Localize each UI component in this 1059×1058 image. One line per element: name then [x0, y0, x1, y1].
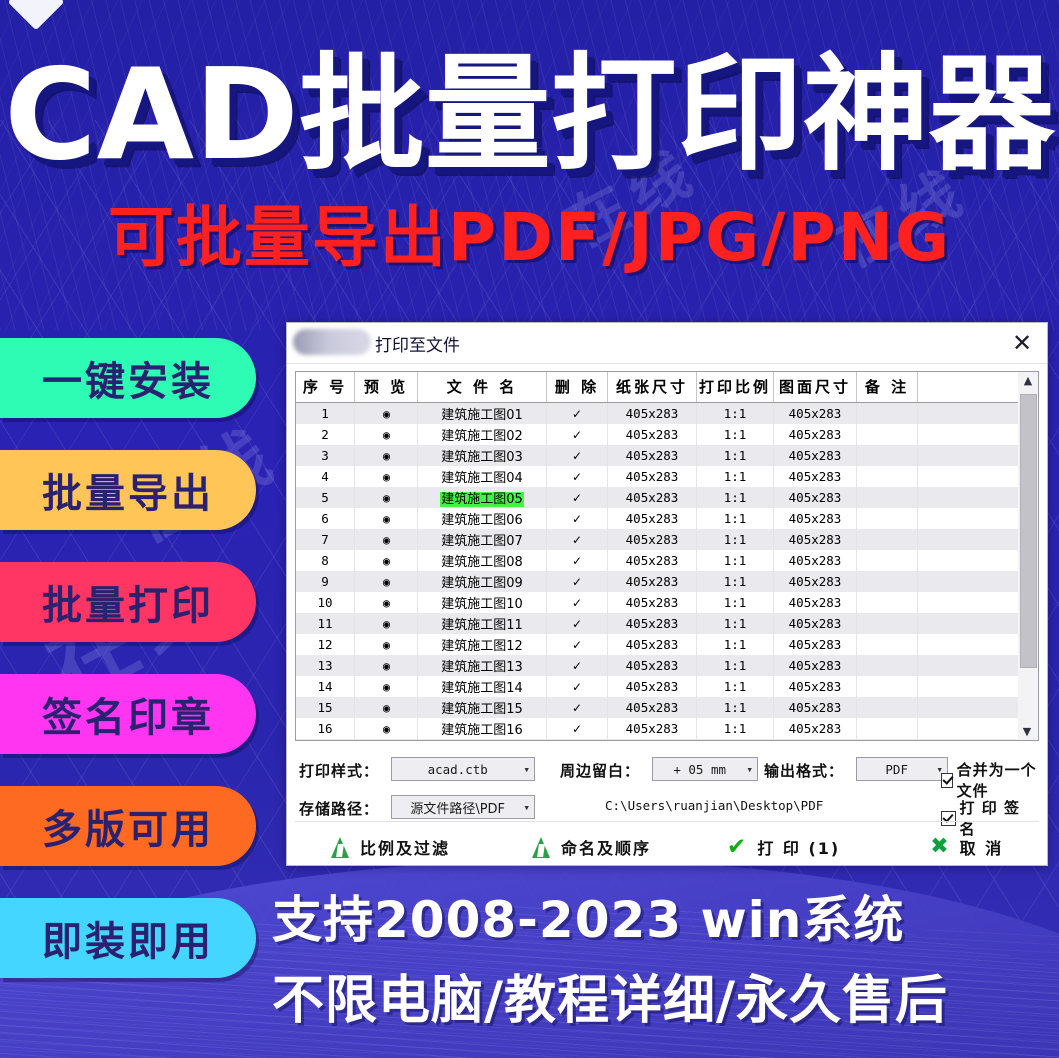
cell-paper-size: 405x283	[608, 445, 697, 466]
table-row[interactable]: 4◉建筑施工图04✓405x2831:1405x283	[296, 466, 1019, 487]
cell-delete[interactable]: ✓	[547, 613, 608, 634]
dialog-action-bar: 比例及过滤 命名及顺序 ✔ 打 印 (1) ✖ 取 消	[287, 829, 1047, 865]
cell-print-scale: 1:1	[697, 592, 774, 613]
table-row[interactable]: 12◉建筑施工图12✓405x2831:1405x283	[296, 634, 1019, 655]
poster-canvas: 在线 在线 在线 在线 CAD批量打印神器 可批量导出PDF/JPG/PNG 一…	[0, 0, 1059, 1058]
cell-seq: 6	[296, 508, 355, 529]
cell-spacer	[918, 508, 1020, 529]
filename-text: 建筑施工图09	[441, 576, 523, 591]
eye-icon[interactable]: ◉	[383, 428, 389, 442]
cell-paper-size: 405x283	[608, 655, 697, 676]
footer-line-1: 支持2008-2023 win系统	[272, 880, 1059, 952]
sidebar-item-label: 签名印章	[42, 685, 214, 743]
cell-seq: 11	[296, 613, 355, 634]
filename-text: 建筑施工图10	[441, 597, 523, 612]
save-path-value: 源文件路径\PDF	[400, 798, 515, 817]
table-row[interactable]: 5◉建筑施工图05✓405x2831:1405x283	[296, 487, 1019, 508]
sidebar-item-label: 一键安装	[42, 349, 214, 407]
cell-paper-size: 405x283	[608, 466, 697, 487]
cell-spacer	[918, 424, 1020, 445]
column-header-filename[interactable]: 文 件 名	[418, 372, 547, 403]
cell-spacer	[918, 592, 1020, 613]
cell-spacer	[918, 739, 1020, 741]
cell-delete[interactable]: ✓	[547, 592, 608, 613]
file-table: 序 号 预 览 文 件 名 删 除 纸张尺寸 打印比例 图面尺寸 备 注 1◉建…	[296, 372, 1019, 741]
cell-delete[interactable]: ✓	[547, 445, 608, 466]
scale-and-filter-button[interactable]: 比例及过滤	[329, 835, 450, 859]
cell-note[interactable]	[857, 508, 918, 529]
cell-filename[interactable]: 建筑施工图15	[418, 697, 547, 718]
sidebar-item-label: 即装即用	[42, 909, 214, 967]
naming-and-order-button[interactable]: 命名及顺序	[530, 835, 651, 859]
sidebar-item-multi-version[interactable]: 多版可用	[0, 786, 256, 866]
table-row[interactable]: 2◉建筑施工图02✓405x2831:1405x283	[296, 424, 1019, 445]
cell-note[interactable]	[857, 634, 918, 655]
cell-delete[interactable]: ✓	[547, 529, 608, 550]
table-row[interactable]: 15◉建筑施工图15✓405x2831:1405x283	[296, 697, 1019, 718]
cell-drawing-size: 405x283	[774, 613, 857, 634]
cell-filename[interactable]: 建筑施工图17	[418, 739, 547, 741]
cell-print-scale: 1:1	[697, 424, 774, 445]
table-row[interactable]: 17◉建筑施工图17✓405x2831:1405x283	[296, 739, 1019, 741]
cell-drawing-size: 405x283	[774, 571, 857, 592]
cell-filename[interactable]: 建筑施工图14	[418, 676, 547, 697]
dialog-title: 打印至文件	[375, 331, 460, 356]
cell-seq: 14	[296, 676, 355, 697]
eye-icon[interactable]: ◉	[383, 701, 389, 715]
cell-drawing-size: 405x283	[774, 676, 857, 697]
check-mark-icon[interactable]: ✓	[572, 491, 582, 505]
cell-note[interactable]	[857, 445, 918, 466]
column-header-drawing-size[interactable]: 图面尺寸	[774, 372, 857, 403]
cell-spacer	[918, 634, 1020, 655]
cell-note[interactable]	[857, 487, 918, 508]
cell-preview[interactable]: ◉	[355, 634, 418, 655]
cell-delete[interactable]: ✓	[547, 634, 608, 655]
cell-print-scale: 1:1	[697, 529, 774, 550]
dialog-body: 序 号 预 览 文 件 名 删 除 纸张尺寸 打印比例 图面尺寸 备 注 1◉建…	[295, 371, 1039, 1058]
cell-paper-size: 405x283	[608, 634, 697, 655]
sidebar-item-label: 多版可用	[42, 797, 214, 855]
page-title: CAD批量打印神器	[0, 52, 1059, 178]
sidebar-item-ready-to-use[interactable]: 即装即用	[0, 898, 256, 978]
cell-drawing-size: 405x283	[774, 403, 857, 425]
sidebar-item-label: 批量打印	[42, 573, 214, 631]
check-mark-icon[interactable]: ✓	[572, 596, 582, 610]
cell-spacer	[918, 655, 1020, 676]
cell-delete[interactable]: ✓	[547, 466, 608, 487]
cell-preview[interactable]: ◉	[355, 697, 418, 718]
filename-text: 建筑施工图11	[441, 618, 523, 633]
eye-icon[interactable]: ◉	[383, 638, 389, 652]
filename-text: 建筑施工图07	[441, 534, 523, 549]
cell-seq: 16	[296, 718, 355, 739]
eye-icon[interactable]: ◉	[383, 596, 389, 610]
table-row[interactable]: 6◉建筑施工图06✓405x2831:1405x283	[296, 508, 1019, 529]
column-header-preview[interactable]: 预 览	[355, 372, 418, 403]
table-row[interactable]: 13◉建筑施工图13✓405x2831:1405x283	[296, 655, 1019, 676]
cell-filename[interactable]: 建筑施工图07	[418, 529, 547, 550]
cell-filename[interactable]: 建筑施工图03	[418, 445, 547, 466]
cell-seq: 5	[296, 487, 355, 508]
table-row[interactable]: 11◉建筑施工图11✓405x2831:1405x283	[296, 613, 1019, 634]
cell-drawing-size: 405x283	[774, 592, 857, 613]
check-mark-icon[interactable]: ✓	[572, 680, 582, 694]
cell-print-scale: 1:1	[697, 571, 774, 592]
column-header-seq[interactable]: 序 号	[296, 372, 355, 403]
cell-spacer	[918, 697, 1020, 718]
cell-note[interactable]	[857, 529, 918, 550]
cell-delete[interactable]: ✓	[547, 676, 608, 697]
table-vertical-scrollbar[interactable]: ▲ ▼	[1018, 371, 1039, 741]
merge-checkbox-label: 合并为一个文件	[957, 759, 1039, 801]
cell-drawing-size: 405x283	[774, 445, 857, 466]
check-mark-icon[interactable]: ✓	[572, 722, 582, 736]
check-mark-icon[interactable]: ✓	[572, 512, 582, 526]
check-mark-icon[interactable]: ✓	[572, 470, 582, 484]
print-button[interactable]: ✔ 打 印 (1)	[727, 835, 840, 859]
check-mark-icon[interactable]: ✓	[572, 554, 582, 568]
cell-delete[interactable]: ✓	[547, 424, 608, 445]
margin-value: + 05 mm	[661, 762, 738, 777]
cell-paper-size: 405x283	[608, 403, 697, 425]
cell-note[interactable]	[857, 613, 918, 634]
cell-delete[interactable]: ✓	[547, 550, 608, 571]
cell-note[interactable]	[857, 697, 918, 718]
cell-paper-size: 405x283	[608, 571, 697, 592]
cell-seq: 8	[296, 550, 355, 571]
cell-note[interactable]	[857, 592, 918, 613]
cell-seq: 15	[296, 697, 355, 718]
output-format-select[interactable]: PDF ▾	[856, 757, 948, 781]
filename-text: 建筑施工图04	[441, 471, 523, 486]
cell-filename[interactable]: 建筑施工图04	[418, 466, 547, 487]
cell-seq: 7	[296, 529, 355, 550]
margin-label: 周边留白：	[560, 760, 640, 781]
cell-spacer	[918, 487, 1020, 508]
cell-filename[interactable]: 建筑施工图05	[418, 487, 547, 508]
check-mark-icon[interactable]: ✓	[572, 659, 582, 673]
cell-print-scale: 1:1	[697, 634, 774, 655]
chevron-down-icon: ▾	[523, 801, 530, 814]
checkbox-icon	[941, 773, 953, 788]
cell-preview[interactable]: ◉	[355, 529, 418, 550]
save-path-select[interactable]: 源文件路径\PDF ▾	[391, 795, 535, 819]
cell-print-scale: 1:1	[697, 697, 774, 718]
cell-drawing-size: 405x283	[774, 466, 857, 487]
table-row[interactable]: 3◉建筑施工图03✓405x2831:1405x283	[296, 445, 1019, 466]
cell-drawing-size: 405x283	[774, 529, 857, 550]
cell-spacer	[918, 571, 1020, 592]
column-header-spacer	[918, 372, 1020, 403]
column-header-print-scale[interactable]: 打印比例	[697, 372, 774, 403]
table-header-row: 序 号 预 览 文 件 名 删 除 纸张尺寸 打印比例 图面尺寸 备 注	[296, 372, 1019, 403]
output-format-label: 输出格式：	[764, 760, 844, 781]
filename-text: 建筑施工图06	[441, 513, 523, 528]
filename-text: 建筑施工图15	[441, 702, 523, 717]
table-row[interactable]: 7◉建筑施工图07✓405x2831:1405x283	[296, 529, 1019, 550]
footer-line-2: 不限电脑/教程详细/永久售后	[272, 958, 1059, 1033]
cell-delete[interactable]: ✓	[547, 697, 608, 718]
triangle-a-icon	[530, 836, 552, 858]
cell-paper-size: 405x283	[608, 424, 697, 445]
cell-delete[interactable]: ✓	[547, 487, 608, 508]
cell-delete[interactable]: ✓	[547, 739, 608, 741]
cell-drawing-size: 405x283	[774, 487, 857, 508]
cell-spacer	[918, 718, 1020, 739]
cell-print-scale: 1:1	[697, 718, 774, 739]
eye-icon[interactable]: ◉	[383, 407, 389, 421]
file-table-container: 序 号 预 览 文 件 名 删 除 纸张尺寸 打印比例 图面尺寸 备 注 1◉建…	[295, 371, 1020, 741]
cell-filename[interactable]: 建筑施工图09	[418, 571, 547, 592]
cell-spacer	[918, 613, 1020, 634]
cell-filename[interactable]: 建筑施工图16	[418, 718, 547, 739]
cell-spacer	[918, 550, 1020, 571]
cell-delete[interactable]: ✓	[547, 571, 608, 592]
eye-icon[interactable]: ◉	[383, 722, 389, 736]
cell-filename[interactable]: 建筑施工图10	[418, 592, 547, 613]
cell-print-scale: 1:1	[697, 676, 774, 697]
check-mark-icon[interactable]: ✓	[572, 575, 582, 589]
check-mark-icon[interactable]: ✓	[572, 638, 582, 652]
eye-icon[interactable]: ◉	[383, 470, 389, 484]
cell-print-scale: 1:1	[697, 550, 774, 571]
sidebar-item-label: 批量导出	[42, 461, 214, 519]
check-mark-icon[interactable]: ✓	[572, 449, 582, 463]
cell-preview[interactable]: ◉	[355, 445, 418, 466]
plot-style-label: 打印样式：	[299, 760, 379, 781]
cell-preview[interactable]: ◉	[355, 592, 418, 613]
table-row[interactable]: 9◉建筑施工图09✓405x2831:1405x283	[296, 571, 1019, 592]
check-mark-icon[interactable]: ✓	[572, 428, 582, 442]
cell-seq: 13	[296, 655, 355, 676]
cell-note[interactable]	[857, 466, 918, 487]
save-path-label: 存储路径：	[299, 798, 379, 819]
cell-paper-size: 405x283	[608, 718, 697, 739]
cell-print-scale: 1:1	[697, 739, 774, 741]
cell-preview[interactable]: ◉	[355, 718, 418, 739]
cell-paper-size: 405x283	[608, 487, 697, 508]
eye-icon[interactable]: ◉	[383, 512, 389, 526]
cell-delete[interactable]: ✓	[547, 718, 608, 739]
cancel-label: 取 消	[960, 835, 1004, 859]
cell-note[interactable]	[857, 676, 918, 697]
filename-text: 建筑施工图13	[441, 660, 523, 675]
cell-preview[interactable]: ◉	[355, 424, 418, 445]
cell-spacer	[918, 676, 1020, 697]
scrollbar-thumb[interactable]	[1020, 394, 1037, 668]
cell-drawing-size: 405x283	[774, 550, 857, 571]
column-header-delete[interactable]: 删 除	[547, 372, 608, 403]
cell-print-scale: 1:1	[697, 466, 774, 487]
cell-preview[interactable]: ◉	[355, 655, 418, 676]
output-path-display: C:\Users\ruanjian\Desktop\PDF	[605, 798, 823, 813]
cell-drawing-size: 405x283	[774, 655, 857, 676]
cell-filename[interactable]: 建筑施工图11	[418, 613, 547, 634]
filename-text: 建筑施工图12	[441, 639, 523, 654]
cancel-button[interactable]: ✖ 取 消	[930, 835, 1003, 859]
cell-drawing-size: 405x283	[774, 739, 857, 741]
cell-preview[interactable]: ◉	[355, 403, 418, 425]
cell-note[interactable]	[857, 571, 918, 592]
app-logo-icon	[293, 329, 371, 355]
close-x-icon: ✖	[930, 836, 950, 858]
cell-seq: 3	[296, 445, 355, 466]
cell-note[interactable]	[857, 403, 918, 425]
table-row[interactable]: 1◉建筑施工图01✓405x2831:1405x283	[296, 403, 1019, 425]
cell-seq: 17	[296, 739, 355, 741]
triangle-a-icon	[329, 836, 351, 858]
filename-text: 建筑施工图01	[441, 408, 523, 423]
cell-paper-size: 405x283	[608, 739, 697, 741]
table-row[interactable]: 10◉建筑施工图10✓405x2831:1405x283	[296, 592, 1019, 613]
check-mark-icon[interactable]: ✓	[572, 407, 582, 421]
sidebar-item-signature-stamp[interactable]: 签名印章	[0, 674, 256, 754]
eye-icon[interactable]: ◉	[383, 617, 389, 631]
check-mark-icon[interactable]: ✓	[572, 617, 582, 631]
eye-icon[interactable]: ◉	[383, 491, 389, 505]
divider	[295, 821, 1039, 822]
cell-seq: 2	[296, 424, 355, 445]
cell-delete[interactable]: ✓	[547, 655, 608, 676]
cell-filename[interactable]: 建筑施工图06	[418, 508, 547, 529]
table-row[interactable]: 16◉建筑施工图16✓405x2831:1405x283	[296, 718, 1019, 739]
scroll-up-icon[interactable]: ▲	[1018, 372, 1038, 389]
cell-print-scale: 1:1	[697, 655, 774, 676]
sidebar-item-one-click-install[interactable]: 一键安装	[0, 338, 256, 418]
eye-icon[interactable]: ◉	[383, 554, 389, 568]
eye-icon[interactable]: ◉	[383, 680, 389, 694]
page-subtitle: 可批量导出PDF/JPG/PNG	[0, 205, 1059, 271]
cell-seq: 9	[296, 571, 355, 592]
cell-delete[interactable]: ✓	[547, 403, 608, 425]
chevron-down-icon: ▾	[746, 763, 753, 776]
filename-text: 建筑施工图05	[440, 492, 524, 507]
scroll-down-icon[interactable]: ▼	[1018, 723, 1036, 740]
column-header-paper-size[interactable]: 纸张尺寸	[608, 372, 697, 403]
cell-paper-size: 405x283	[608, 697, 697, 718]
cell-spacer	[918, 403, 1020, 425]
cell-preview[interactable]: ◉	[355, 466, 418, 487]
cell-drawing-size: 405x283	[774, 508, 857, 529]
eye-icon[interactable]: ◉	[383, 659, 389, 673]
table-row[interactable]: 14◉建筑施工图14✓405x2831:1405x283	[296, 676, 1019, 697]
cell-print-scale: 1:1	[697, 445, 774, 466]
cell-paper-size: 405x283	[608, 592, 697, 613]
cell-note[interactable]	[857, 424, 918, 445]
cell-seq: 10	[296, 592, 355, 613]
cell-note[interactable]	[857, 739, 918, 741]
merge-to-one-file-checkbox[interactable]: 合并为一个文件	[941, 759, 1039, 801]
close-icon[interactable]: ✕	[1007, 328, 1037, 358]
cell-filename[interactable]: 建筑施工图12	[418, 634, 547, 655]
cell-delete[interactable]: ✓	[547, 508, 608, 529]
plot-style-select[interactable]: acad.ctb ▾	[391, 757, 535, 781]
eye-icon[interactable]: ◉	[383, 575, 389, 589]
cell-preview[interactable]: ◉	[355, 676, 418, 697]
cell-paper-size: 405x283	[608, 550, 697, 571]
sidebar-item-batch-print[interactable]: 批量打印	[0, 562, 256, 642]
cell-filename[interactable]: 建筑施工图08	[418, 550, 547, 571]
cell-print-scale: 1:1	[697, 508, 774, 529]
cell-preview[interactable]: ◉	[355, 739, 418, 741]
cell-drawing-size: 405x283	[774, 697, 857, 718]
filename-text: 建筑施工图03	[441, 450, 523, 465]
eye-icon[interactable]: ◉	[383, 533, 389, 547]
sidebar-item-batch-export[interactable]: 批量导出	[0, 450, 256, 530]
table-row[interactable]: 8◉建筑施工图08✓405x2831:1405x283	[296, 550, 1019, 571]
filename-text: 建筑施工图08	[441, 555, 523, 570]
cell-drawing-size: 405x283	[774, 634, 857, 655]
cell-preview[interactable]: ◉	[355, 571, 418, 592]
cell-note[interactable]	[857, 550, 918, 571]
cell-seq: 12	[296, 634, 355, 655]
scale-filter-label: 比例及过滤	[360, 835, 450, 859]
cell-preview[interactable]: ◉	[355, 487, 418, 508]
check-mark-icon[interactable]: ✓	[572, 701, 582, 715]
cell-print-scale: 1:1	[697, 613, 774, 634]
column-header-note[interactable]: 备 注	[857, 372, 918, 403]
print-to-file-dialog: 打印至文件 ✕ 序 号 预 览 文 件 名 删 除 纸张尺寸 打印比例 图面尺寸	[286, 322, 1048, 866]
filename-text: 建筑施工图16	[441, 723, 523, 738]
cell-seq: 4	[296, 466, 355, 487]
cell-filename[interactable]: 建筑施工图02	[418, 424, 547, 445]
cell-spacer	[918, 445, 1020, 466]
cell-paper-size: 405x283	[608, 676, 697, 697]
check-icon: ✔	[727, 836, 748, 859]
cell-print-scale: 1:1	[697, 487, 774, 508]
cell-print-scale: 1:1	[697, 403, 774, 425]
cell-spacer	[918, 529, 1020, 550]
cell-note[interactable]	[857, 655, 918, 676]
eye-icon[interactable]: ◉	[383, 449, 389, 463]
cell-seq: 1	[296, 403, 355, 425]
cell-preview[interactable]: ◉	[355, 508, 418, 529]
cell-drawing-size: 405x283	[774, 424, 857, 445]
cell-preview[interactable]: ◉	[355, 613, 418, 634]
cell-note[interactable]	[857, 718, 918, 739]
dialog-titlebar: 打印至文件 ✕	[287, 323, 1047, 364]
file-table-body: 1◉建筑施工图01✓405x2831:1405x2832◉建筑施工图02✓405…	[296, 403, 1019, 742]
filename-text: 建筑施工图02	[441, 429, 523, 444]
cell-paper-size: 405x283	[608, 613, 697, 634]
check-mark-icon[interactable]: ✓	[572, 533, 582, 547]
checkbox-icon	[941, 811, 956, 826]
plot-style-value: acad.ctb	[400, 762, 515, 777]
print-label: 打 印 (1)	[757, 835, 840, 859]
filename-text: 建筑施工图14	[441, 681, 523, 696]
cell-filename[interactable]: 建筑施工图01	[418, 403, 547, 425]
cell-drawing-size: 405x283	[774, 718, 857, 739]
margin-select[interactable]: + 05 mm ▾	[652, 757, 758, 781]
cell-filename[interactable]: 建筑施工图13	[418, 655, 547, 676]
cell-preview[interactable]: ◉	[355, 550, 418, 571]
naming-order-label: 命名及顺序	[561, 835, 651, 859]
cell-paper-size: 405x283	[608, 508, 697, 529]
cell-spacer	[918, 466, 1020, 487]
cell-paper-size: 405x283	[608, 529, 697, 550]
chevron-down-icon: ▾	[523, 763, 530, 776]
output-format-value: PDF	[865, 762, 928, 777]
